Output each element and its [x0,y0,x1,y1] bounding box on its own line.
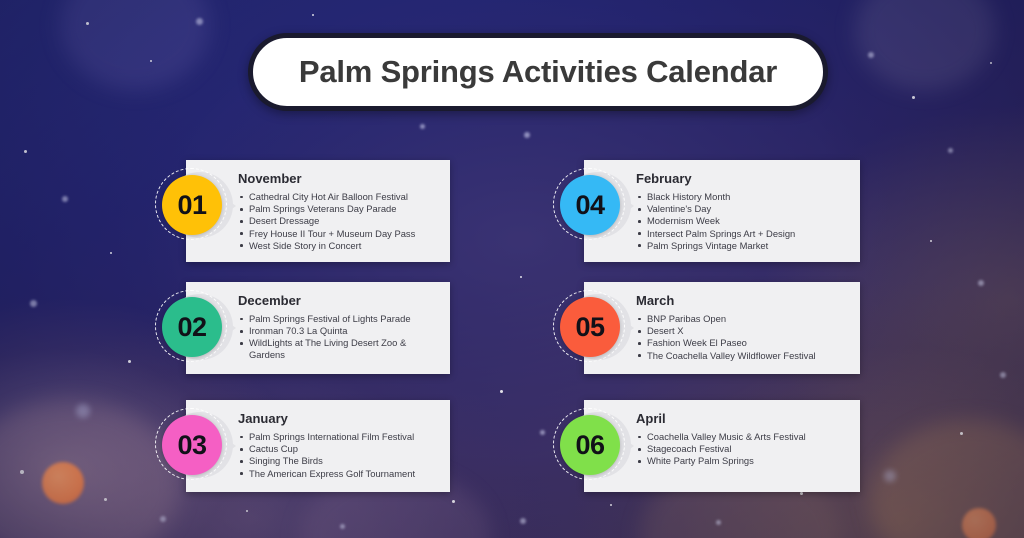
badge-circle: 03 [162,415,222,475]
month-name: February [636,172,848,186]
month-name: April [636,412,848,426]
list-item: White Party Palm Springs [636,455,848,467]
month-badge-april: 06 [548,406,634,486]
infographic-poster: Palm Springs Activities Calendar Novembe… [0,0,1024,538]
list-item: Black History Month [636,191,848,203]
badge-number: 04 [575,190,604,221]
badge-number: 06 [575,430,604,461]
list-item: Intersect Palm Springs Art + Design [636,228,848,240]
list-item: Valentine's Day [636,203,848,215]
list-item: The Coachella Valley Wildflower Festival [636,350,848,362]
list-item: Cactus Cup [238,443,438,455]
list-item: Desert X [636,325,848,337]
month-badge-march: 05 [548,288,634,368]
list-item: Frey House II Tour + Museum Day Pass [238,228,438,240]
list-item: Palm Springs Vintage Market [636,240,848,252]
list-item: WildLights at The Living Desert Zoo & Ga… [238,337,438,360]
list-item: Coachella Valley Music & Arts Festival [636,431,848,443]
badge-circle: 01 [162,175,222,235]
badge-circle: 05 [560,297,620,357]
badge-number: 03 [177,430,206,461]
month-name: December [238,294,438,308]
month-name: March [636,294,848,308]
list-item: BNP Paribas Open [636,313,848,325]
list-item: Fashion Week El Paseo [636,337,848,349]
event-list: BNP Paribas Open Desert X Fashion Week E… [636,313,848,361]
month-name: January [238,412,438,426]
month-badge-december: 02 [150,288,236,368]
month-name: November [238,172,438,186]
month-badge-february: 04 [548,166,634,246]
month-badge-november: 01 [150,166,236,246]
list-item: Cathedral City Hot Air Balloon Festival [238,191,438,203]
badge-number: 05 [575,312,604,343]
page-title: Palm Springs Activities Calendar [299,54,777,90]
badge-circle: 02 [162,297,222,357]
list-item: Modernism Week [636,215,848,227]
event-list: Coachella Valley Music & Arts Festival S… [636,431,848,467]
badge-circle: 04 [560,175,620,235]
list-item: The American Express Golf Tournament [238,468,438,480]
event-list: Cathedral City Hot Air Balloon Festival … [238,191,438,251]
month-badge-january: 03 [150,406,236,486]
list-item: West Side Story in Concert [238,240,438,252]
list-item: Desert Dressage [238,215,438,227]
event-list: Black History Month Valentine's Day Mode… [636,191,848,251]
badge-circle: 06 [560,415,620,475]
list-item: Ironman 70.3 La Quinta [238,325,438,337]
list-item: Palm Springs Festival of Lights Parade [238,313,438,325]
list-item: Singing The Birds [238,455,438,467]
list-item: Palm Springs Veterans Day Parade [238,203,438,215]
title-banner: Palm Springs Activities Calendar [248,33,828,111]
badge-number: 01 [177,190,206,221]
title-pill: Palm Springs Activities Calendar [248,33,828,111]
event-list: Palm Springs Festival of Lights Parade I… [238,313,438,360]
event-list: Palm Springs International Film Festival… [238,431,438,479]
list-item: Palm Springs International Film Festival [238,431,438,443]
list-item: Stagecoach Festival [636,443,848,455]
badge-number: 02 [177,312,206,343]
